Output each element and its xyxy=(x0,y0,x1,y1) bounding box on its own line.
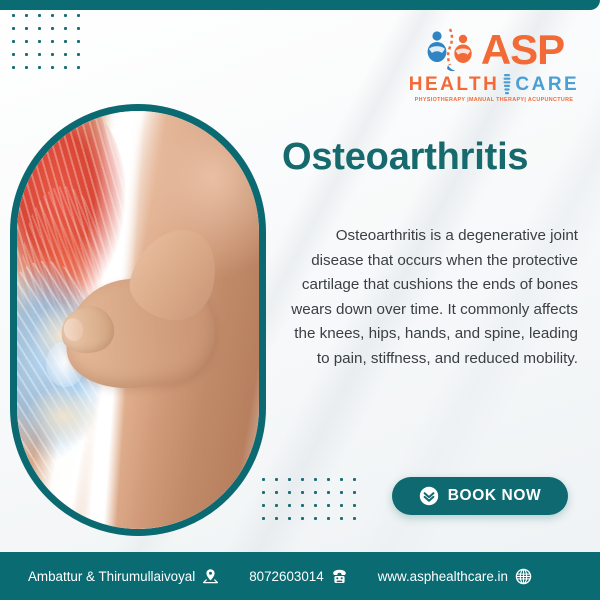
dot xyxy=(327,504,330,507)
dot xyxy=(51,66,54,69)
dot xyxy=(288,478,291,481)
dot xyxy=(262,491,265,494)
dot xyxy=(38,66,41,69)
dot xyxy=(288,517,291,520)
logo-health-care-row: HEALTH CARE xyxy=(406,73,582,95)
dot xyxy=(12,14,15,17)
dot xyxy=(301,504,304,507)
dot xyxy=(340,504,343,507)
dot xyxy=(51,14,54,17)
footer-phone[interactable]: 8072603014 xyxy=(249,568,347,585)
dot xyxy=(51,27,54,30)
footer-location[interactable]: Ambattur & Thirumullaivoyal xyxy=(28,568,219,585)
dot xyxy=(340,478,343,481)
content-column: Osteoarthritis Osteoarthritis is a degen… xyxy=(282,138,578,372)
dot xyxy=(353,517,356,520)
logo-health-text: HEALTH xyxy=(409,75,500,94)
footer-phone-text: 8072603014 xyxy=(249,569,323,584)
dot xyxy=(301,517,304,520)
book-now-button[interactable]: BOOK NOW xyxy=(392,477,568,515)
dot xyxy=(314,478,317,481)
dot xyxy=(77,66,80,69)
page-title: Osteoarthritis xyxy=(282,138,578,178)
dot xyxy=(51,53,54,56)
dot xyxy=(327,517,330,520)
dot xyxy=(64,14,67,17)
double-chevron-down-circle-icon xyxy=(419,486,439,506)
dot xyxy=(353,478,356,481)
dot xyxy=(327,478,330,481)
dot xyxy=(25,66,28,69)
dot xyxy=(64,53,67,56)
dot xyxy=(275,504,278,507)
dot xyxy=(275,478,278,481)
dot xyxy=(275,491,278,494)
people-spine-icon xyxy=(424,27,478,73)
dot xyxy=(275,517,278,520)
dot xyxy=(38,14,41,17)
dot xyxy=(25,53,28,56)
logo-top-row: ASP xyxy=(406,26,582,74)
dot xyxy=(25,27,28,30)
dot xyxy=(288,491,291,494)
dot xyxy=(77,27,80,30)
dot xyxy=(314,504,317,507)
dot xyxy=(77,53,80,56)
dot xyxy=(314,517,317,520)
dot xyxy=(301,491,304,494)
dot xyxy=(353,491,356,494)
dot xyxy=(51,40,54,43)
dot xyxy=(327,491,330,494)
dot xyxy=(262,517,265,520)
photo-inner xyxy=(17,111,259,529)
dot xyxy=(12,27,15,30)
dot xyxy=(64,40,67,43)
dot xyxy=(77,14,80,17)
knee-anatomy-photo xyxy=(10,104,266,536)
dot xyxy=(64,66,67,69)
logo-tagline: PHYSIOTHERAPY |MANUAL THERAPY| ACUPUNCTU… xyxy=(406,97,582,103)
dot xyxy=(38,40,41,43)
dot xyxy=(353,504,356,507)
dot xyxy=(340,491,343,494)
dot xyxy=(25,40,28,43)
dot xyxy=(262,504,265,507)
dot xyxy=(12,53,15,56)
dot xyxy=(77,40,80,43)
location-pin-icon xyxy=(202,568,219,585)
dot xyxy=(301,478,304,481)
dot xyxy=(262,478,265,481)
footer-website[interactable]: www.asphealthcare.in xyxy=(378,568,532,585)
dot xyxy=(340,517,343,520)
poster-canvas: ASP HEALTH CARE PHYSIOTHERAPY |MANUAL TH… xyxy=(0,0,600,600)
spine-icon xyxy=(501,73,513,95)
book-now-label: BOOK NOW xyxy=(448,487,542,505)
teal-top-bar xyxy=(0,0,600,10)
dot xyxy=(288,504,291,507)
dot xyxy=(38,27,41,30)
footer-website-text: www.asphealthcare.in xyxy=(378,569,508,584)
dot xyxy=(12,66,15,69)
globe-icon xyxy=(515,568,532,585)
dot xyxy=(314,491,317,494)
dot xyxy=(38,53,41,56)
dot xyxy=(12,40,15,43)
logo-care-text: CARE xyxy=(515,75,579,94)
dot xyxy=(25,14,28,17)
dot xyxy=(64,27,67,30)
telephone-icon xyxy=(331,568,348,585)
footer-bar: Ambattur & Thirumullaivoyal 8072603014 w… xyxy=(0,552,600,600)
description-text: Osteoarthritis is a degenerative joint d… xyxy=(282,224,578,372)
logo-asp-text: ASP xyxy=(481,29,564,71)
brand-logo: ASP HEALTH CARE PHYSIOTHERAPY |MANUAL TH… xyxy=(406,26,582,103)
footer-location-text: Ambattur & Thirumullaivoyal xyxy=(28,569,195,584)
